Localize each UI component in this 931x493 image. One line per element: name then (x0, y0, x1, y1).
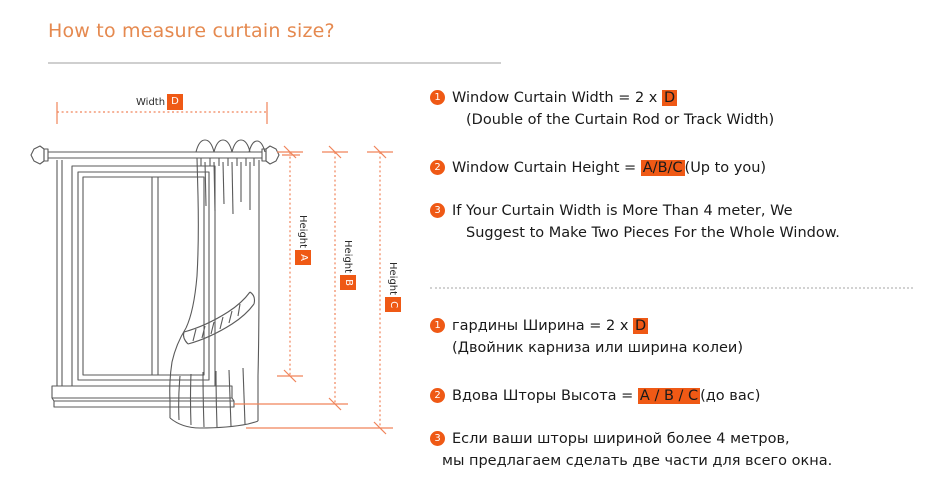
instruction-en-3-pre: If Your Curtain Width is More Than 4 met… (452, 203, 793, 219)
instruction-ru-3-line2: мы предлагаем сделать две части для всег… (442, 451, 832, 471)
infographic-root: How to measure curtain size? (0, 0, 931, 493)
dim-label-width-d: Width D (136, 94, 183, 110)
instruction-en-1-highlight: D (662, 90, 677, 106)
instruction-number-2: 2 (430, 160, 445, 175)
instruction-ru-number-1: 1 (430, 318, 445, 333)
instruction-en-1-pre: Window Curtain Width = 2 x (452, 90, 662, 106)
instruction-en-2-line1: Window Curtain Height = A/B/C(Up to you) (452, 158, 766, 178)
instruction-en-1-line1: Window Curtain Width = 2 x D (452, 88, 677, 108)
instruction-en-2-pre: Window Curtain Height = (452, 160, 641, 176)
instruction-ru-1-line1: гардины Ширина = 2 х D (452, 316, 648, 336)
instruction-ru-1-highlight: D (633, 318, 648, 334)
instruction-ru-3-pre: Если ваши шторы шириной более 4 метров, (452, 431, 790, 447)
instruction-en-1-line2: (Double of the Curtain Rod or Track Widt… (466, 110, 774, 130)
dim-chip-d: D (167, 94, 183, 110)
section-divider (430, 287, 913, 289)
instruction-ru-1-line2: (Двойник карниза или ширина колеи) (452, 338, 743, 358)
dim-label-height-c-text: Height (388, 262, 399, 295)
instruction-ru-3-line1: Если ваши шторы шириной более 4 метров, (452, 429, 790, 449)
dim-chip-c: C (385, 297, 401, 312)
instruction-en-2-highlight: A/B/C (641, 160, 685, 176)
dim-label-height-c: Height C (385, 262, 401, 312)
instruction-ru-2-line1: Вдова Шторы Высота = A / B / C(до вас) (452, 386, 760, 406)
instruction-en-3-line1: If Your Curtain Width is More Than 4 met… (452, 201, 793, 221)
dim-chip-a: A (295, 250, 311, 265)
instruction-ru-2-highlight: A / B / C (638, 388, 700, 404)
instruction-en-3-line2: Suggest to Make Two Pieces For the Whole… (466, 223, 840, 243)
dim-label-height-a: Height A (295, 215, 311, 265)
dim-label-height-b-text: Height (343, 240, 354, 273)
instruction-ru-2-post: (до вас) (700, 388, 760, 404)
page-title: How to measure curtain size? (48, 20, 335, 42)
dim-chip-b: B (340, 275, 356, 290)
dim-label-height-a-text: Height (298, 215, 309, 248)
instruction-ru-1-pre: гардины Ширина = 2 х (452, 318, 633, 334)
instruction-ru-number-3: 3 (430, 431, 445, 446)
instruction-number-3: 3 (430, 203, 445, 218)
title-divider (48, 62, 501, 64)
instruction-ru-number-2: 2 (430, 388, 445, 403)
dim-label-width-text: Width (136, 97, 165, 108)
instruction-number-1: 1 (430, 90, 445, 105)
dim-label-height-b: Height B (340, 240, 356, 290)
instruction-en-2-post: (Up to you) (685, 160, 767, 176)
curtain-measurement-diagram: Width D Height A Height B Height C (0, 76, 425, 493)
instruction-ru-2-pre: Вдова Шторы Высота = (452, 388, 638, 404)
